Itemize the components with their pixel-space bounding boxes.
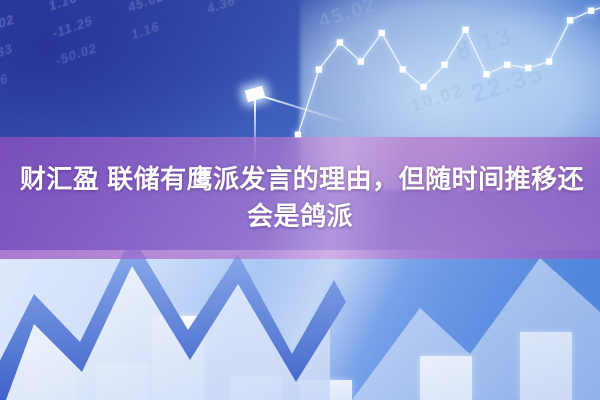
chart-node (567, 17, 573, 23)
chart-node (316, 66, 322, 72)
promo-banner: -0.362.26-50.0245.02-21.358.13-11.251.16… (0, 0, 600, 400)
ticker-value: 2.26 (0, 64, 25, 94)
chart-node (337, 39, 343, 45)
zigzag-ribbon-arrow (0, 250, 600, 400)
chart-node (379, 30, 385, 36)
lamp-beam (257, 94, 349, 124)
chart-node (462, 27, 468, 33)
headline-line-1: 财汇盈 联储有鹰派发言的理由，但随时间推移还 (16, 163, 584, 196)
ticker-value: 4.36 (206, 0, 251, 16)
lower-graphic-section (0, 250, 600, 400)
chart-node (358, 58, 364, 64)
ticker-value: 1.16 (131, 12, 176, 42)
chart-node (588, 8, 594, 14)
ticker-value: -50.02 (55, 38, 100, 68)
chart-node (483, 71, 489, 77)
headline-block: 财汇盈 联储有鹰派发言的理由，但随时间推移还 会是鸽派 (0, 137, 600, 259)
chart-node (400, 66, 406, 72)
chart-node (420, 84, 426, 90)
chart-node (441, 62, 447, 68)
chart-node (504, 62, 510, 68)
headline-line-2: 会是鸽派 (247, 200, 353, 233)
chart-node (546, 58, 552, 64)
chart-node (525, 65, 531, 71)
